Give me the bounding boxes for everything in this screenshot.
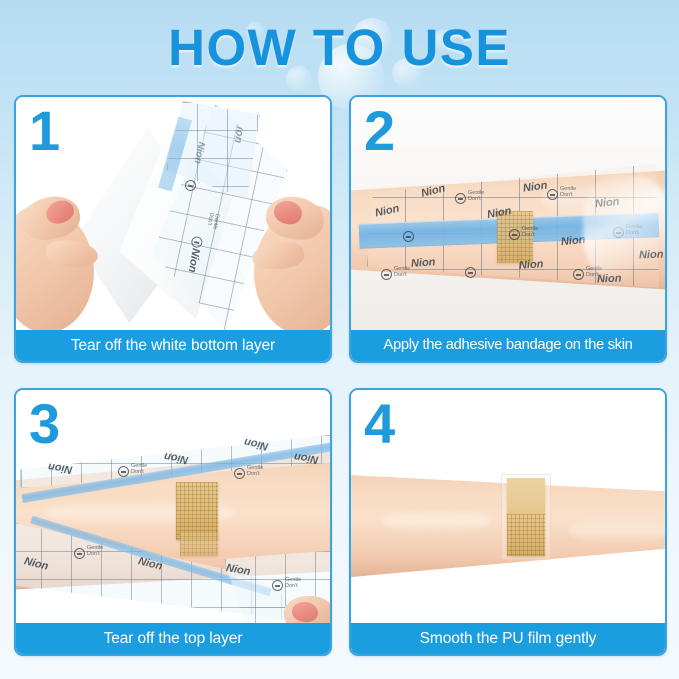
- film-fine-print: GentleDon't: [247, 466, 263, 477]
- film-fine-print: GentleDon't: [131, 464, 147, 475]
- film-logo-icon: [272, 580, 283, 591]
- gauze-pad-top: [507, 478, 545, 516]
- film-logo-icon: [74, 548, 85, 559]
- film-fine-print: GentleDon't: [285, 578, 301, 589]
- step-2-illustration: Nion Nion Nion Nion Nion Nion Nion Nion …: [351, 97, 665, 330]
- gauze-pad-lower: [180, 532, 218, 556]
- forearm-highlight-right: [569, 516, 665, 544]
- gauze-pad-mesh: [507, 514, 545, 556]
- how-to-use-infographic: HOW TO USE Nion Nion Nion GentleDon't: [0, 0, 679, 679]
- film-logo-icon: [573, 269, 584, 280]
- step-1-illustration: Nion Nion Nion GentleDon't: [16, 97, 330, 330]
- film-logo-icon: [465, 267, 476, 278]
- step-panel-1: Nion Nion Nion GentleDon't: [14, 95, 332, 363]
- step-panel-4: 4 Smooth the PU film gently: [349, 388, 667, 656]
- film-logo-icon: [509, 229, 520, 240]
- step-number-4: 4: [364, 396, 395, 452]
- film-fine-print: GentleDon't: [468, 191, 484, 202]
- steps-grid: Nion Nion Nion GentleDon't: [14, 95, 667, 656]
- film-brand-label: Nion: [411, 256, 436, 270]
- film-brand-label: Nion: [519, 258, 544, 272]
- step-number-1: 1: [29, 103, 60, 159]
- film-fine-print: GentleDon't: [394, 267, 410, 278]
- forearm-highlight-left: [381, 508, 491, 534]
- film-logo-icon: [547, 189, 558, 200]
- step-3-illustration: Nion Nion Nion Nion Nion Nion Nion Gentl…: [16, 390, 330, 623]
- film-logo-icon: [118, 466, 129, 477]
- step-number-2: 2: [364, 103, 395, 159]
- gauze-pad: [507, 514, 545, 556]
- gauze-pad-mesh: [180, 532, 218, 556]
- film-logo-icon: [455, 193, 466, 204]
- step-panel-2: Nion Nion Nion Nion Nion Nion Nion Nion …: [349, 95, 667, 363]
- film-fine-print: GentleDon't: [560, 187, 576, 198]
- step-4-illustration: [351, 390, 665, 623]
- film-fine-print: GentleDon't: [522, 227, 538, 238]
- film-logo-icon: [381, 269, 392, 280]
- film-logo-icon: [234, 468, 245, 479]
- step-number-3: 3: [29, 396, 60, 452]
- step-panel-3: Nion Nion Nion Nion Nion Nion Nion Gentl…: [14, 388, 332, 656]
- film-fine-print: GentleDon't: [87, 546, 103, 557]
- step-caption-3: Tear off the top layer: [16, 623, 330, 654]
- step-caption-1: Tear off the white bottom layer: [16, 330, 330, 361]
- step-caption-4: Smooth the PU film gently: [351, 623, 665, 654]
- film-fine-print: GentleDon't: [205, 212, 219, 230]
- page-title: HOW TO USE: [0, 22, 679, 73]
- film-glare: [583, 175, 665, 279]
- step-caption-2: Apply the adhesive bandage on the skin: [351, 330, 665, 361]
- film-logo-icon: [403, 231, 414, 242]
